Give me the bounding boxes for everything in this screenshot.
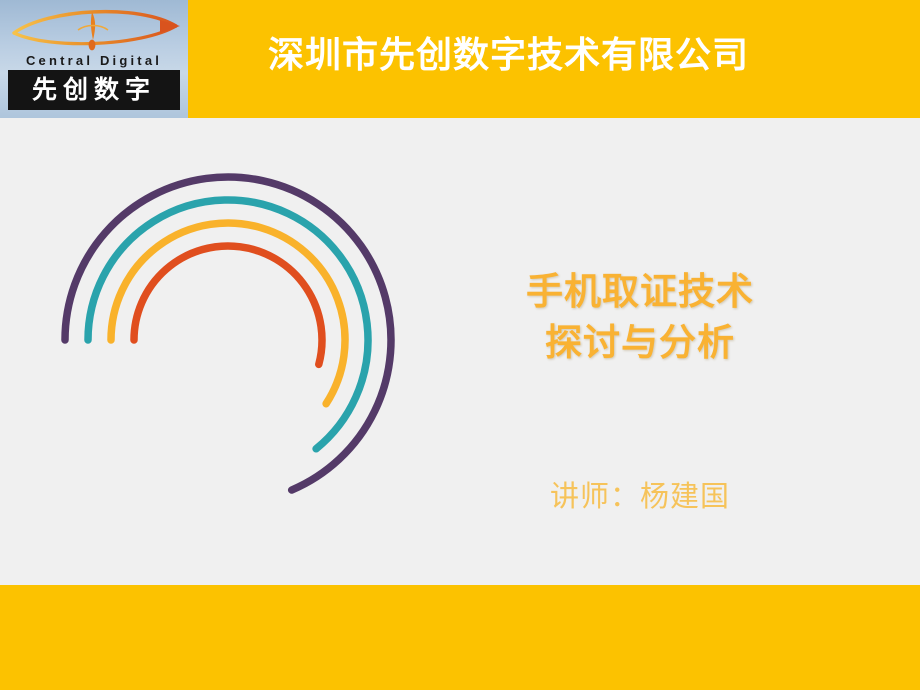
amber-arc (111, 223, 345, 404)
company-logo: Central Digital 先创数字 (0, 0, 188, 118)
footer-band (0, 585, 920, 690)
presenter-label: 讲师：杨建国 (470, 473, 810, 515)
presentation-slide: 深圳市先创数字技术有限公司 (0, 0, 920, 690)
company-name-heading: 深圳市先创数字技术有限公司 (268, 30, 868, 80)
logo-latin-text: Central Digital (0, 53, 188, 68)
logo-chinese-plate: 先创数字 (8, 70, 180, 110)
slide-title-line-1: 手机取证技术 (526, 271, 754, 312)
orange-arc (134, 246, 322, 364)
teal-arc (88, 200, 368, 449)
slide-title: 手机取证技术 探讨与分析 (470, 266, 810, 368)
logo-chinese-text: 先创数字 (8, 73, 180, 107)
slide-title-line-2: 探讨与分析 (470, 317, 810, 368)
concentric-arcs-graphic (48, 160, 408, 520)
